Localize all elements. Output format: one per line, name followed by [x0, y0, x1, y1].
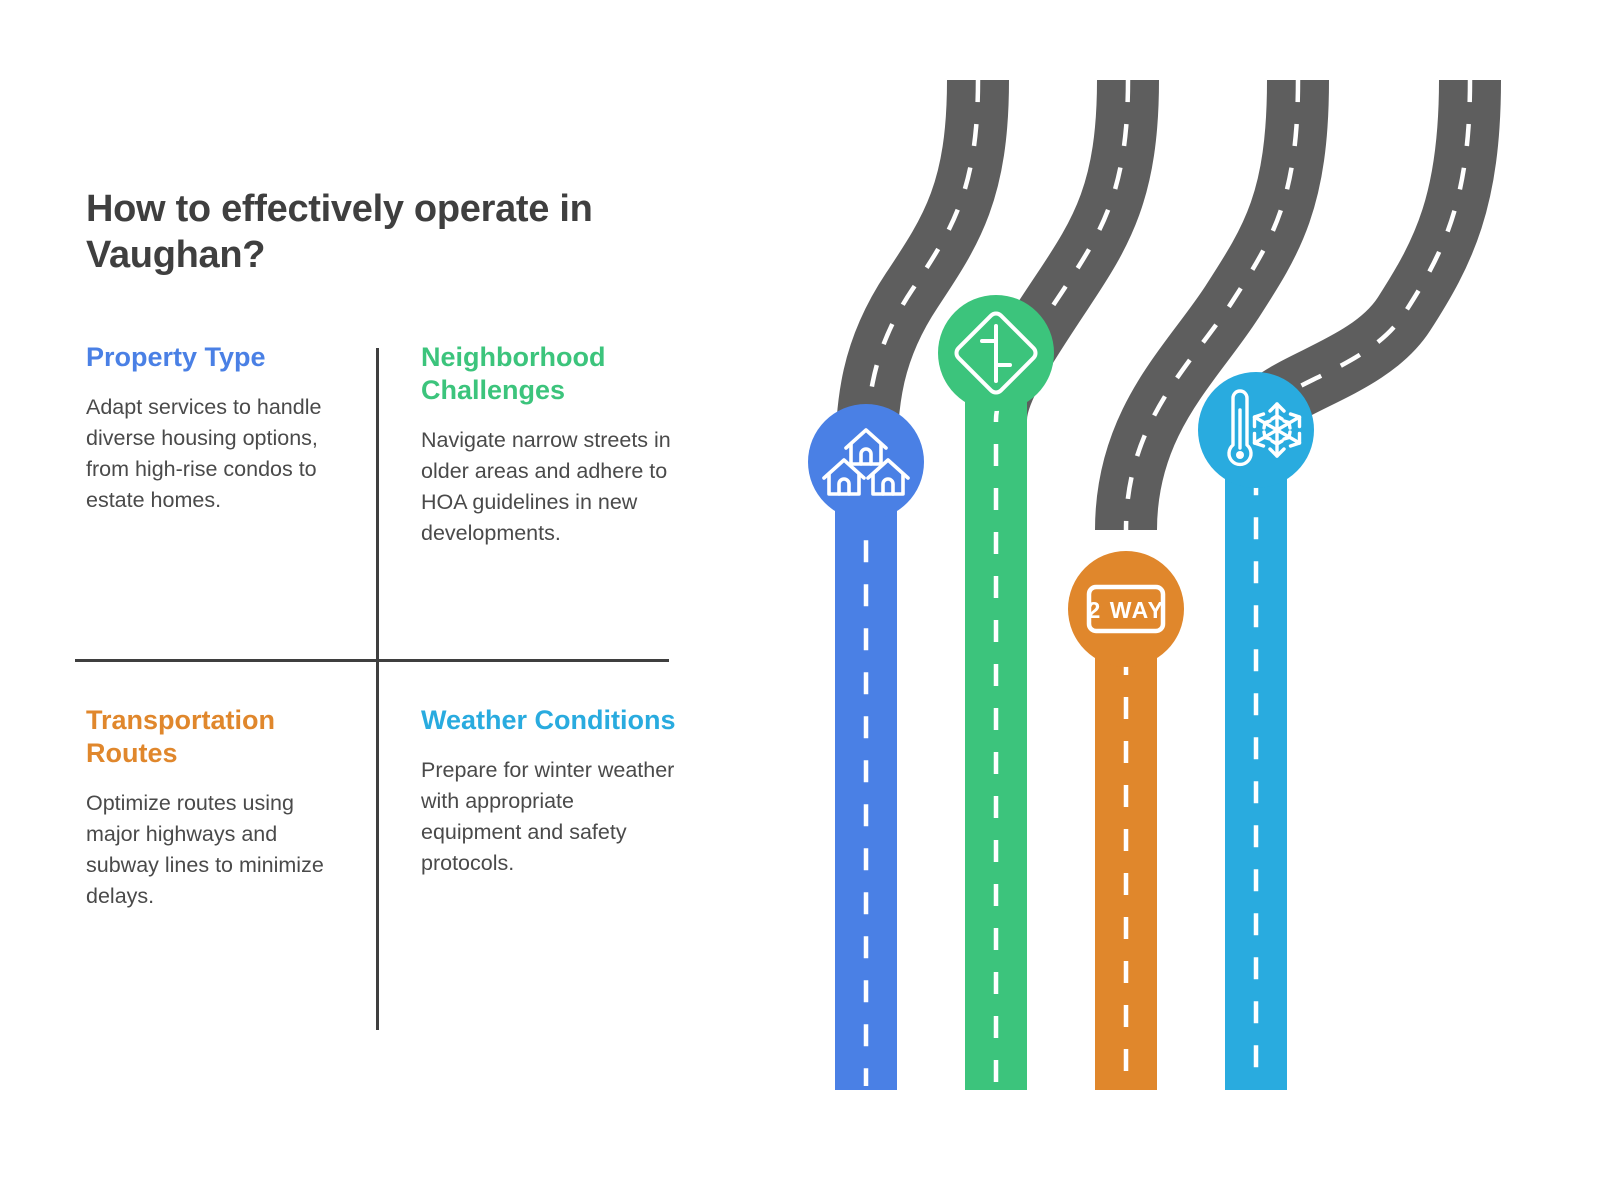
- infographic-canvas: How to effectively operate in Vaughan? P…: [0, 0, 1600, 1196]
- badge-circle-property-type[interactable]: [808, 404, 924, 520]
- road-property-type: [866, 80, 978, 1090]
- vertical-divider: [376, 348, 379, 1030]
- quadrant-body-transportation-routes: Optimize routes using major highways and…: [86, 788, 350, 913]
- quadrant-neighborhood-challenges: Neighborhood Challenges Navigate narrow …: [376, 341, 676, 659]
- quadrant-row-top: Property Type Adapt services to handle d…: [86, 341, 686, 659]
- quadrant-body-neighborhood-challenges: Navigate narrow streets in older areas a…: [421, 425, 676, 550]
- quadrant-transportation-routes: Transportation Routes Optimize routes us…: [86, 659, 376, 913]
- badge-circle-weather-conditions[interactable]: [1198, 372, 1314, 488]
- quadrant-heading-neighborhood-challenges: Neighborhood Challenges: [421, 341, 676, 407]
- roads-graphic: 2 WAY: [780, 0, 1600, 1196]
- badge-neighborhood-challenges[interactable]: [938, 295, 1054, 411]
- quadrant-row-bottom: Transportation Routes Optimize routes us…: [86, 659, 686, 913]
- badge-property-type[interactable]: [808, 404, 924, 520]
- quadrant-property-type: Property Type Adapt services to handle d…: [86, 341, 376, 659]
- quadrant-grid: Property Type Adapt services to handle d…: [86, 341, 686, 913]
- quadrant-body-weather-conditions: Prepare for winter weather with appropri…: [421, 755, 676, 880]
- quadrant-body-property-type: Adapt services to handle diverse housing…: [86, 392, 350, 517]
- page-title: How to effectively operate in Vaughan?: [86, 186, 676, 279]
- badge-transportation-routes[interactable]: 2 WAY: [1068, 551, 1184, 667]
- quadrant-heading-weather-conditions: Weather Conditions: [421, 704, 676, 737]
- quadrant-heading-property-type: Property Type: [86, 341, 350, 374]
- badge-weather-conditions[interactable]: [1198, 372, 1314, 488]
- quadrant-weather-conditions: Weather Conditions Prepare for winter we…: [376, 659, 676, 913]
- quadrant-heading-transportation-routes: Transportation Routes: [86, 704, 350, 770]
- two-way-sign-label: 2 WAY: [1088, 597, 1165, 623]
- horizontal-divider: [75, 659, 669, 662]
- text-panel: How to effectively operate in Vaughan? P…: [86, 186, 686, 1046]
